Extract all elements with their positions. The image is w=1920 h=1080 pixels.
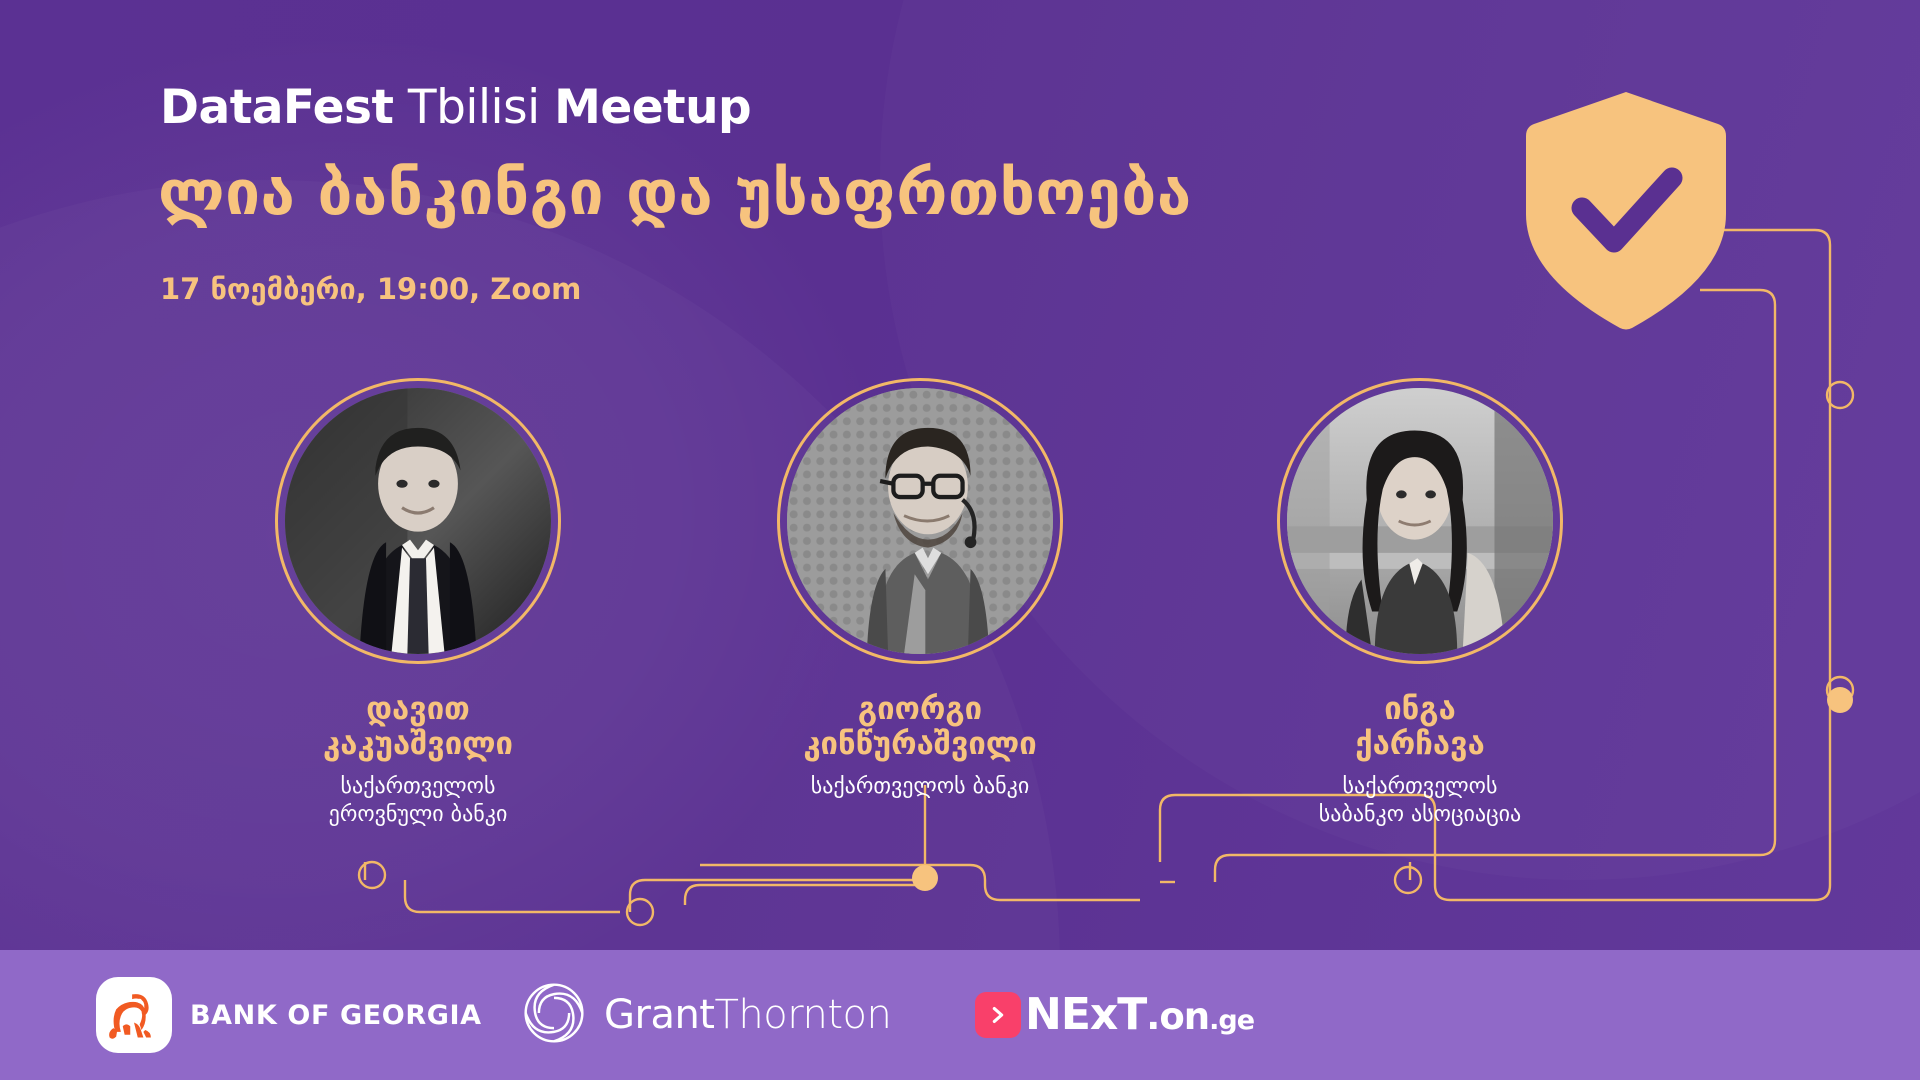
avatar <box>777 378 1063 664</box>
nexton-ne: NE <box>1025 989 1090 1040</box>
speaker-name: ინგა ქარჩავა <box>1240 692 1600 761</box>
speaker-photo-2 <box>787 388 1053 654</box>
lion-icon <box>96 977 172 1053</box>
sponsor-logo-grant-thornton[interactable]: GrantThornton <box>520 979 891 1051</box>
speaker-photo-1 <box>285 388 551 654</box>
sponsor-label: GrantThornton <box>604 992 891 1038</box>
speakers-row: დავით კაკუაშვილი საქართველოს ეროვნული ბა… <box>0 0 1920 1080</box>
speaker-card-2: გიორგი კინწურაშვილი საქართველოს ბანკი <box>740 378 1100 801</box>
sponsor-logo-nexton[interactable]: NExT.on.ge <box>975 992 1254 1038</box>
speaker-name: დავით კაკუაშვილი <box>238 692 598 761</box>
swirl-icon <box>520 979 588 1051</box>
avatar <box>1277 378 1563 664</box>
speaker-card-1: დავით კაკუაშვილი საქართველოს ეროვნული ბა… <box>238 378 598 828</box>
sponsor-label-grant: Grant <box>604 992 715 1038</box>
nexton-t: T <box>1117 989 1146 1040</box>
speaker-organization: საქართველოს ეროვნული ბანკი <box>238 773 598 828</box>
sponsor-logo-bank-of-georgia[interactable]: BANK OF GEORGIA <box>96 977 482 1053</box>
nexton-tld: .ge <box>1209 1005 1254 1036</box>
sponsor-label-thornton: Thornton <box>715 992 892 1038</box>
speaker-organization: საქართველოს ბანკი <box>740 773 1100 801</box>
nexton-x: x <box>1090 989 1117 1040</box>
speaker-photo-3 <box>1287 388 1553 654</box>
avatar <box>275 378 561 664</box>
sponsor-label: BANK OF GEORGIA <box>190 1000 482 1031</box>
poster-canvas: DataFest Tbilisi Meetup ლია ბანკინგი და … <box>0 0 1920 1080</box>
speaker-name: გიორგი კინწურაშვილი <box>740 692 1100 761</box>
play-icon <box>975 992 1021 1038</box>
nexton-on: .on <box>1146 995 1209 1038</box>
sponsor-label: NExT.on.ge <box>1025 993 1254 1037</box>
speaker-organization: საქართველოს საბანკო ასოციაცია <box>1240 773 1600 828</box>
sponsor-footer: BANK OF GEORGIA GrantThornton <box>0 950 1920 1080</box>
speaker-card-3: ინგა ქარჩავა საქართველოს საბანკო ასოციაც… <box>1240 378 1600 828</box>
